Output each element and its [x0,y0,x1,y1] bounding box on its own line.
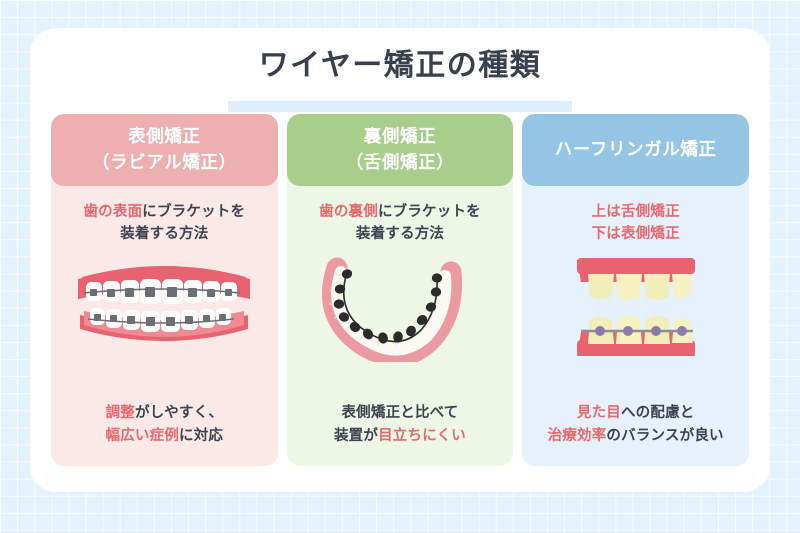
infographic-page: ワイヤー矯正の種類 表側矯正 （ラビアル矯正） 歯の表面にブラケットを 装着する… [0,0,800,533]
card-labial-desc-line1: 歯の表面にブラケットを [83,201,245,223]
card-half-lingual-footer: 見た目への配慮と 治療効率のバランスが良い [522,402,749,448]
card-labial[interactable]: 表側矯正 （ラビアル矯正） 歯の表面にブラケットを 装着する方法 [51,114,278,466]
card-labial-foot-highlight1: 調整 [106,405,135,421]
lingual-braces-svg [305,252,495,362]
card-lingual-foot-highlight2: 目立ちにくい [378,428,466,444]
card-lingual[interactable]: 裏側矯正 （舌側矯正） 歯の裏側にブラケットを 装着する方法 [287,114,514,466]
card-half-lingual-foot-highlight2: 治療効率 [548,428,607,444]
card-labial-desc-line2: 装着する方法 [83,223,245,245]
upper-teeth [588,274,693,300]
white-content-panel: ワイヤー矯正の種類 表側矯正 （ラビアル矯正） 歯の表面にブラケットを 装着する… [30,28,770,492]
card-half-lingual-desc-line1: 上は舌側矯正 [592,201,680,223]
card-lingual-desc-line2: 装着する方法 [319,223,481,245]
card-lingual-footer: 表側矯正と比べて 装置が目立ちにくい [287,402,514,448]
card-half-lingual-desc-line2: 下は表側矯正 [592,223,680,245]
card-labial-foot-line2: 幅広い症例に対応 [51,425,278,448]
title-block: ワイヤー矯正の種類 [30,44,770,88]
card-half-lingual-foot-rest2: のバランスが良い [606,428,723,444]
card-lingual-foot-line1: 表側矯正と比べて [287,402,514,425]
card-lingual-header: 裏側矯正 （舌側矯正） [287,114,514,186]
card-labial-header-line2: （ラビアル矯正） [55,150,274,176]
half-lingual-svg [541,252,731,362]
card-labial-foot-rest1: がしやすく、 [135,405,223,421]
card-lingual-description: 歯の裏側にブラケットを 装着する方法 [319,201,481,245]
card-labial-foot-rest2: に対応 [179,428,223,444]
card-half-lingual-foot-line2: 治療効率のバランスが良い [522,425,749,448]
card-lingual-header-line2: （舌側矯正） [291,150,510,176]
upper-jaw [577,258,695,300]
card-labial-description: 歯の表面にブラケットを 装着する方法 [83,201,245,245]
card-half-lingual-header: ハーフリンガル矯正 [522,114,749,186]
card-labial-header: 表側矯正 （ラビアル矯正） [51,114,278,186]
title-underline-bar [228,101,572,112]
card-lingual-desc-highlight: 歯の裏側 [319,204,378,220]
card-labial-desc-highlight: 歯の表面 [83,204,142,220]
card-row: 表側矯正 （ラビアル矯正） 歯の表面にブラケットを 装着する方法 [51,114,749,466]
lower-jaw [577,316,695,356]
card-half-lingual-header-line1: ハーフリンガル矯正 [526,137,745,163]
card-half-lingual-foot-rest1: への配慮と [621,405,695,421]
dental-arch-occlusal-with-lingual-braces-illustration [287,252,514,362]
card-labial-foot-highlight2: 幅広い症例 [106,428,180,444]
card-labial-header-line1: 表側矯正 [55,124,274,150]
card-half-lingual-foot-line1: 見た目への配慮と [522,402,749,425]
card-lingual-header-line1: 裏側矯正 [291,124,510,150]
page-title: ワイヤー矯正の種類 [30,44,770,88]
card-lingual-desc-line1: 歯の裏側にブラケットを [319,201,481,223]
card-lingual-foot-plain2: 装置が [334,428,378,444]
card-lingual-desc-rest: にブラケットを [378,204,481,220]
labial-braces-svg [64,255,264,359]
upper-lower-teeth-half-lingual-illustration [522,252,749,362]
card-half-lingual[interactable]: ハーフリンガル矯正 上は舌側矯正 下は表側矯正 [522,114,749,466]
card-labial-foot-line1: 調整がしやすく、 [51,402,278,425]
card-labial-footer: 調整がしやすく、 幅広い症例に対応 [51,402,278,448]
card-half-lingual-foot-highlight1: 見た目 [577,405,621,421]
card-half-lingual-description: 上は舌側矯正 下は表側矯正 [592,201,680,245]
front-teeth-with-labial-braces-illustration [51,252,278,362]
card-lingual-foot-line2: 装置が目立ちにくい [287,425,514,448]
card-labial-desc-rest: にブラケットを [142,204,245,220]
